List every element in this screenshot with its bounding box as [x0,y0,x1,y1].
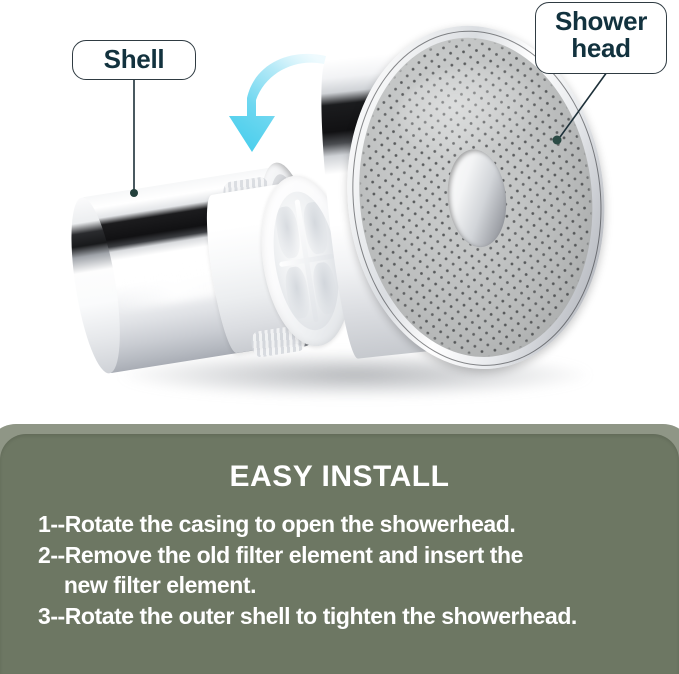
rotate-arrow [222,52,352,177]
callout-shell-label: Shell [73,46,195,73]
install-step-1: 1--Rotate the casing to open the showerh… [24,510,655,539]
callout-shower-head-label-line2: head [536,35,666,62]
product-illustration: Shell Shower head [0,0,679,425]
rotate-arrow-icon [222,52,352,177]
easy-install-panel: EASY INSTALL 1--Rotate the casing to ope… [0,424,679,674]
install-step-2: 2--Remove the old filter element and ins… [24,541,655,600]
panel-content: EASY INSTALL 1--Rotate the casing to ope… [0,434,679,674]
callout-shell: Shell [72,40,196,80]
install-title: EASY INSTALL [24,460,655,494]
install-step-3: 3--Rotate the outer shell to tighten the… [24,602,655,631]
callout-shower-head-label-line1: Shower [536,8,666,35]
callout-shower-head: Shower head [535,2,667,74]
